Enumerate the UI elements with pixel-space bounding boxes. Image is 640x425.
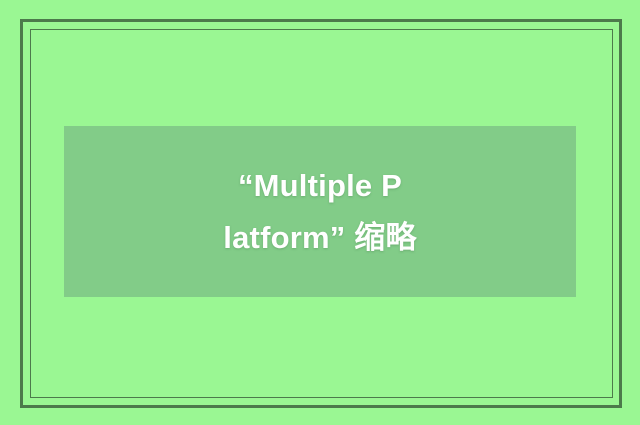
caption-line-1: “Multiple P xyxy=(238,160,402,212)
caption-plate: “Multiple P latform” 缩略 xyxy=(64,126,576,297)
caption-line-2: latform” 缩略 xyxy=(223,212,416,264)
image-canvas: “Multiple P latform” 缩略 xyxy=(0,0,640,425)
